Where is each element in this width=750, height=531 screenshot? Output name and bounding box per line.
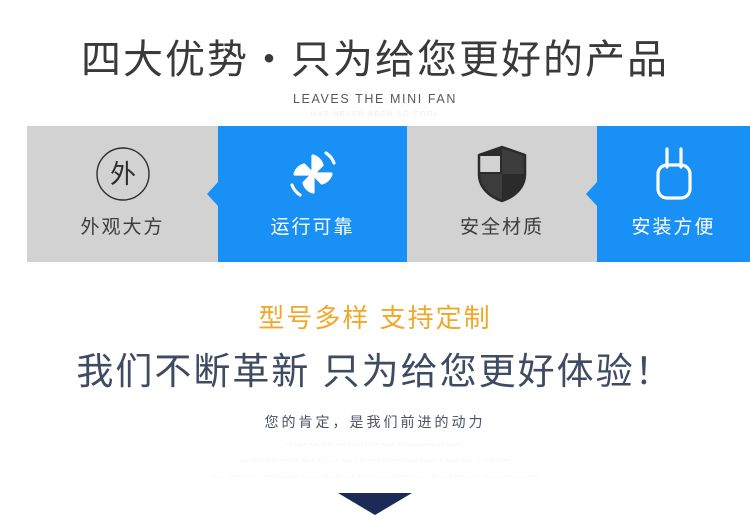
decorative-faint-line-1: LEAVES THE MINI FAN HAS NEVER BEEN SO CO… bbox=[0, 442, 750, 448]
feature-panel-installation[interactable]: 安装方便 bbox=[597, 126, 750, 262]
shield-icon bbox=[473, 144, 531, 204]
decorative-faint-line-3: YOUR APPROVAL IS THE DRIVING FORCE BEHIN… bbox=[0, 474, 750, 480]
feature-label-reliability: 运行可靠 bbox=[270, 212, 354, 239]
fan-blades-icon bbox=[282, 144, 344, 204]
tagline-innovation: 我们不断革新 只为给您更好体验！ bbox=[0, 348, 750, 396]
decorative-faint-line-2: WE KEEP INNOVATING ONLY TO GIVE YOU A BE… bbox=[0, 458, 750, 464]
feature-panel-reliability[interactable]: 运行可靠 bbox=[218, 126, 407, 262]
tagline-models: 型号多样 支持定制 bbox=[0, 300, 750, 336]
feature-panel-group: 外 外观大方 bbox=[27, 126, 750, 262]
power-plug-icon bbox=[646, 144, 702, 204]
tagline-motivation: 您的肯定，是我们前进的动力 bbox=[0, 412, 750, 432]
header-subtitle-faint: HAS NEVER BEEN SO COOL bbox=[0, 109, 750, 118]
header: 四大优势・只为给您更好的产品 LEAVES THE MINI FAN HAS N… bbox=[0, 34, 750, 118]
lower-copy-block: 型号多样 支持定制 我们不断革新 只为给您更好体验！ 您的肯定，是我们前进的动力… bbox=[0, 300, 750, 480]
circle-character-icon: 外 bbox=[93, 144, 153, 204]
feature-label-installation: 安装方便 bbox=[631, 212, 715, 239]
page-title: 四大优势・只为给您更好的产品 bbox=[0, 34, 750, 86]
header-subtitle: LEAVES THE MINI FAN bbox=[0, 92, 750, 106]
feature-label-appearance: 外观大方 bbox=[80, 212, 164, 239]
notch-left-icon bbox=[207, 182, 218, 206]
feature-panel-appearance[interactable]: 外 外观大方 bbox=[27, 126, 218, 262]
promo-banner: 四大优势・只为给您更好的产品 LEAVES THE MINI FAN HAS N… bbox=[0, 0, 750, 531]
feature-panel-safety[interactable]: 安全材质 bbox=[407, 126, 597, 262]
circle-icon-character: 外 bbox=[109, 159, 135, 189]
scroll-down-arrow-icon[interactable] bbox=[338, 493, 412, 515]
feature-label-safety: 安全材质 bbox=[460, 212, 544, 239]
notch-left-icon bbox=[586, 182, 597, 206]
